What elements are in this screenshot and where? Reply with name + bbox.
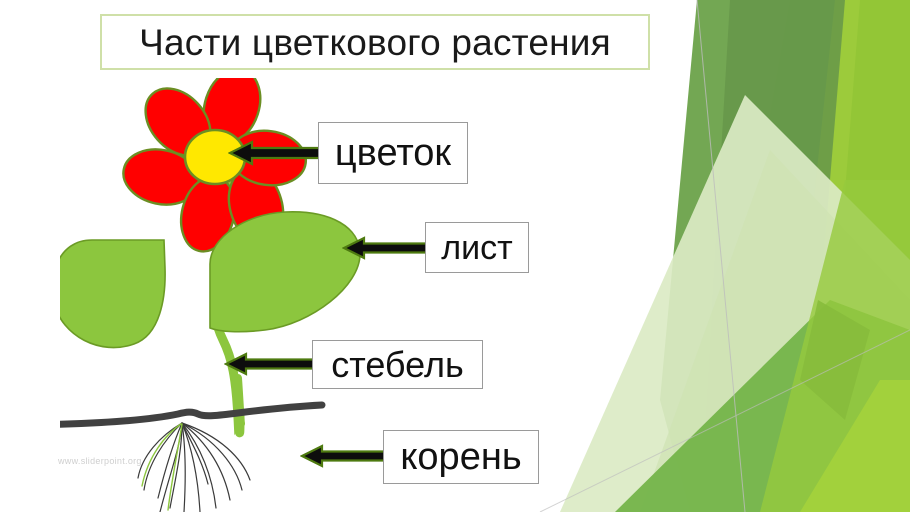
decor-shape-bright-right <box>700 0 910 512</box>
leaf-right <box>210 212 360 332</box>
callout-root-label: корень <box>400 438 521 476</box>
plant-stem-to-ground <box>238 378 241 424</box>
slide-title-box: Части цветкового растения <box>100 14 650 70</box>
decor-hairline-top <box>697 0 745 512</box>
callout-stem-label: стебель <box>331 347 464 383</box>
leaf-left <box>60 240 165 348</box>
callout-leaf: лист <box>425 222 529 273</box>
root-strand <box>182 423 242 490</box>
callout-flower-label: цветок <box>335 134 451 172</box>
decor-shape-mid-band <box>615 300 910 512</box>
page-title: Части цветкового растения <box>139 24 611 61</box>
decor-shape-bright-overlay <box>760 180 910 512</box>
callout-root: корень <box>383 430 539 484</box>
decor-shape-dark-wedge <box>660 0 835 512</box>
ground-line <box>60 405 322 425</box>
root-system <box>138 423 250 512</box>
flower-center <box>185 130 245 184</box>
decor-shape-dark-wedge-2 <box>700 0 845 512</box>
decor-shape-pale-sheet-2 <box>640 150 910 512</box>
callout-leaf-label: лист <box>441 231 512 265</box>
root-strand-green <box>168 424 182 510</box>
decor-shape-pale-sheet <box>560 95 910 512</box>
callout-stem: стебель <box>312 340 483 389</box>
root-strand <box>182 423 230 500</box>
decor-shape-deep-notch <box>800 300 870 420</box>
root-strand <box>182 423 185 512</box>
watermark: www.sliderpoint.org <box>58 456 142 466</box>
callout-flower: цветок <box>318 122 468 184</box>
decor-shape-lime-bottom <box>800 380 910 512</box>
decor-hairline-diagonal <box>540 330 910 512</box>
decor-shape-lime-far-right <box>820 0 910 512</box>
slide-canvas: Части цветкового растения <box>0 0 910 512</box>
